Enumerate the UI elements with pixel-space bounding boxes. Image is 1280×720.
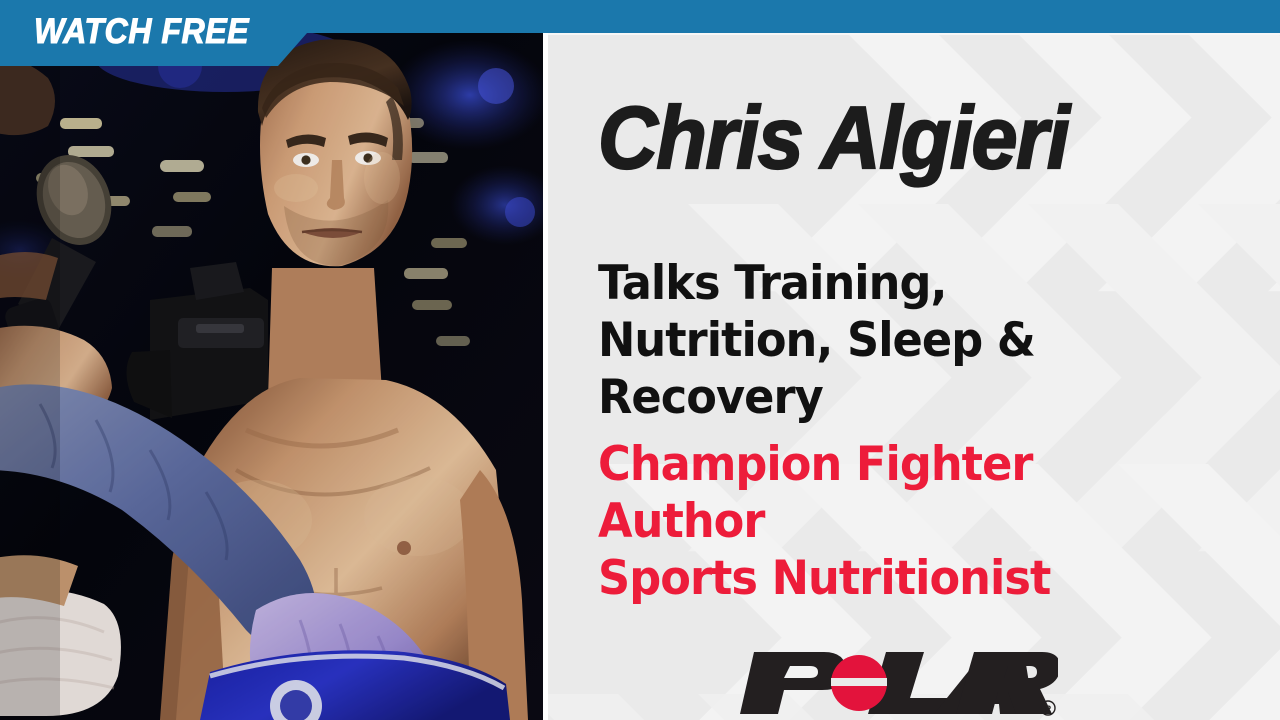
credential-line: Author: [598, 494, 1073, 551]
subtitle-line: Recovery: [598, 370, 1045, 427]
page-title: Chris Algieri: [598, 96, 1068, 180]
info-panel: Chris Algieri Talks Training, Nutrition,…: [548, 34, 1280, 720]
credential-line: Sports Nutritionist: [598, 551, 1073, 608]
polar-logo: R: [728, 646, 1058, 720]
panel-top-hairline: [548, 33, 1280, 35]
subtitle-block: Talks Training, Nutrition, Sleep & Recov…: [598, 256, 1068, 427]
watch-free-label: WATCH FREE: [34, 12, 249, 52]
subtitle-line: Nutrition, Sleep &: [598, 313, 1045, 370]
promo-banner: Chris Algieri Talks Training, Nutrition,…: [0, 0, 1280, 720]
svg-text:R: R: [1045, 704, 1052, 714]
credentials-block: Champion Fighter Author Sports Nutrition…: [598, 437, 1098, 608]
watch-free-badge[interactable]: WATCH FREE: [0, 0, 336, 66]
fighter-photo: [0, 0, 543, 720]
subtitle-line: Talks Training,: [598, 256, 1045, 313]
credential-line: Champion Fighter: [598, 437, 1073, 494]
